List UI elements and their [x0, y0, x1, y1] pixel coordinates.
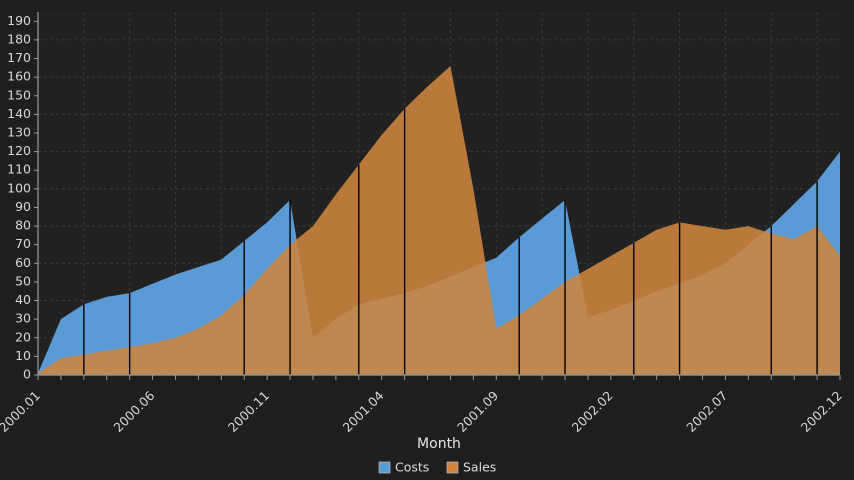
y-axis-tick-label: 170 — [7, 50, 31, 65]
chart-legend: CostsSales — [379, 460, 496, 475]
x-axis-tick-label: 2001.09 — [454, 388, 501, 435]
x-axis-tick-label: 2002.07 — [683, 388, 730, 435]
legend-label-costs[interactable]: Costs — [395, 460, 429, 475]
y-axis-tick-label: 150 — [7, 87, 31, 102]
x-axis-tick-label-group: 2002.07 — [683, 388, 730, 435]
x-axis-tick-label-group: 2000.11 — [225, 388, 272, 435]
legend-label-sales[interactable]: Sales — [463, 460, 496, 475]
y-axis-tick-label: 90 — [15, 199, 31, 214]
legend-swatch-sales[interactable] — [447, 462, 458, 473]
y-axis-tick-label: 100 — [7, 180, 31, 195]
y-axis-tick-label: 20 — [15, 329, 31, 344]
x-axis-tick-label: 2000.11 — [225, 388, 272, 435]
y-axis-tick-label: 130 — [7, 125, 31, 140]
x-axis-tick-label: 2000.01 — [0, 388, 43, 435]
area-chart: 0102030405060708090100110120130140150160… — [0, 0, 854, 480]
y-axis-tick-label: 50 — [15, 273, 31, 288]
chart-canvas: 0102030405060708090100110120130140150160… — [0, 0, 854, 480]
x-axis-tick-label-group: 2002.12 — [798, 388, 845, 435]
x-axis-tick-label-group: 2001.04 — [339, 388, 386, 435]
x-axis-tick-label-group: 2002.02 — [569, 388, 616, 435]
x-axis-tick-label-group: 2000.01 — [0, 388, 43, 435]
legend-swatch-costs[interactable] — [379, 462, 390, 473]
y-axis-tick-label: 160 — [7, 69, 31, 84]
x-axis-tick-label: 2001.04 — [339, 388, 386, 435]
y-axis-tick-label: 80 — [15, 218, 31, 233]
y-axis-tick-label: 110 — [7, 162, 31, 177]
y-axis-tick-label: 10 — [15, 348, 31, 363]
x-axis-tick-label: 2002.12 — [798, 388, 845, 435]
y-axis-tick-label: 30 — [15, 311, 31, 326]
x-axis-title: Month — [417, 436, 461, 452]
y-axis-tick-label: 180 — [7, 31, 31, 46]
y-axis-tick-label: 190 — [7, 13, 31, 28]
x-axis-tick-label-group: 2001.09 — [454, 388, 501, 435]
y-axis-tick-label: 60 — [15, 255, 31, 270]
y-axis-tick-label: 70 — [15, 236, 31, 251]
x-axis-tick-label: 2002.02 — [569, 388, 616, 435]
y-axis-tick-label: 120 — [7, 143, 31, 158]
x-axis-tick-label-group: 2000.06 — [110, 388, 157, 435]
y-axis-tick-label: 40 — [15, 292, 31, 307]
y-axis-tick-label: 140 — [7, 106, 31, 121]
x-axis-tick-label: 2000.06 — [110, 388, 157, 435]
y-axis-tick-label: 0 — [23, 367, 31, 382]
